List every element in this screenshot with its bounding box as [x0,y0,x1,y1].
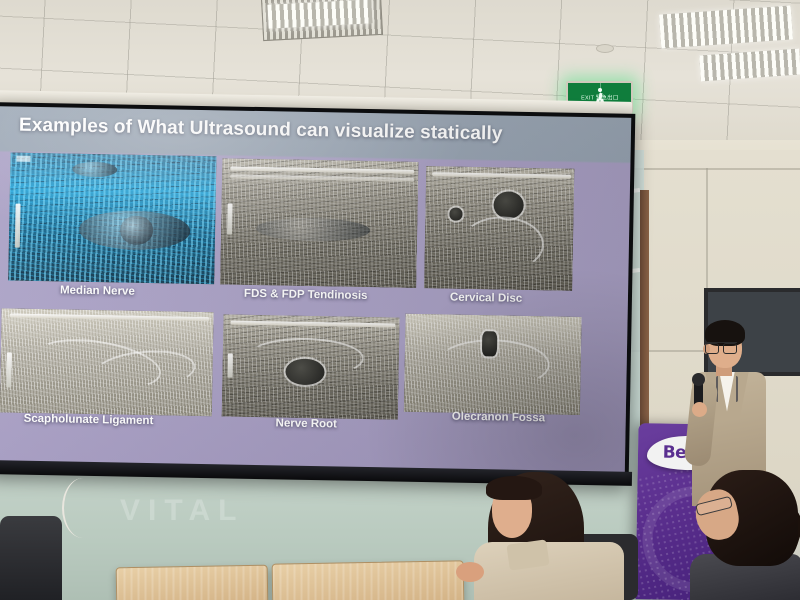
slide-title: Examples of What Ultrasound can visualiz… [19,115,503,146]
slide-figure: Olecranon Fossa [404,314,582,415]
figure-caption: FDS & FDP Tendinosis [244,288,368,302]
ultrasound-image[interactable] [222,314,400,419]
figure-caption: Olecranon Fossa [452,411,546,425]
smoke-detector [596,44,614,53]
slide-figure: Cervical Disc [424,166,574,291]
projection-screen[interactable]: Examples of What Ultrasound can visualiz… [0,102,635,484]
exit-sign-text: EXIT 緊急出口 [581,93,618,101]
figure-caption: Nerve Root [275,417,337,430]
ultrasound-image[interactable] [220,158,418,288]
cable [62,478,104,538]
presenter-hand [692,402,707,417]
slide-figure: FDS & FDP Tendinosis [220,158,418,288]
panel-seam [620,168,800,170]
lecture-room-photo: EXIT 緊急出口 VITAL Examples of What Ultraso… [0,0,800,600]
lanyard [716,376,738,402]
ultrasound-image[interactable] [8,152,216,284]
attendee-hand [456,562,484,582]
chair-back [0,516,62,600]
foreground-attendee [690,468,800,600]
attendee-coat [474,542,624,600]
figure-caption: Scapholunate Ligament [24,413,154,427]
seated-attendee [468,470,638,600]
figure-caption: Cervical Disc [450,292,522,305]
desk [272,560,465,600]
ultrasound-image[interactable] [0,308,214,416]
figure-caption: Median Nerve [60,284,135,297]
slide-figure: Scapholunate Ligament [0,308,214,416]
glasses [705,342,737,352]
ultrasound-image-grid: Median Nerve FDS & FDP Tendinosis [0,150,622,475]
slide-figure: Median Nerve [8,152,216,284]
ultrasound-image[interactable] [424,166,574,291]
presentation-slide: Examples of What Ultrasound can visualiz… [0,106,631,480]
ultrasound-image[interactable] [404,314,582,415]
desk [116,565,269,600]
slide-figure: Nerve Root [222,314,400,419]
